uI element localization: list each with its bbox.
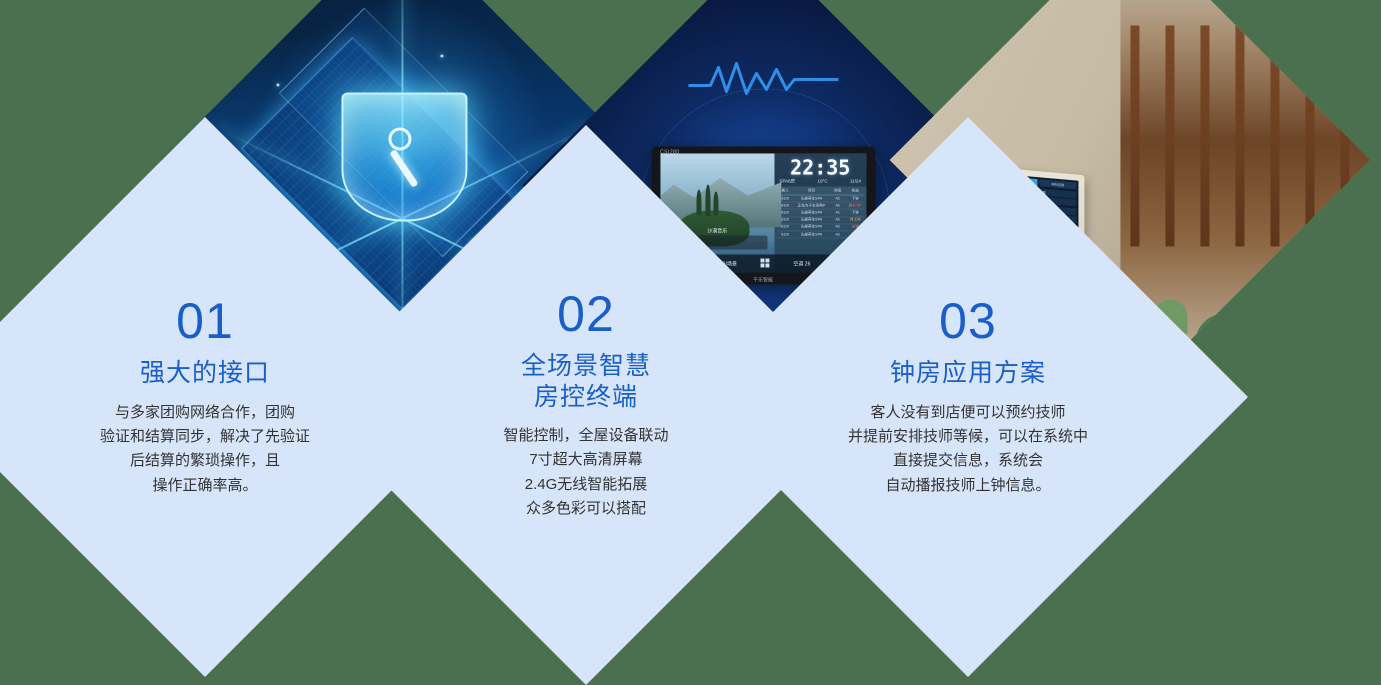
clock-widget: 22:35 SPA6房 19°C 11/24 [774,154,866,187]
table-row: 8119 头部养生SPA A2 下钟 [776,195,864,202]
card-description: 智能控制，全屋设备联动 7寸超大高清屏幕 2.4G无线智能拓展 众多色彩可以搭配 [436,424,736,521]
col-status: 状态 [847,189,865,194]
card-number: 03 [818,296,1118,346]
table-row: 8119 头部养生SPA A2 待上钟 [776,217,864,224]
table-row: 8119 头部养生SPA A1 下钟 [776,210,864,217]
promo-banner: CSI280 沙漠音乐 [0,0,1381,603]
apps-grid-icon[interactable] [761,258,770,269]
pulse-wave-icon [688,60,838,100]
col-item: 项目 [794,189,829,194]
shield-lock-icon [341,93,467,222]
temperature-label: 19°C [818,179,828,185]
table-header: 客人 项目 钟房 状态 [776,189,864,196]
plant-leaf [1269,347,1313,391]
room-label: SPA6房 [779,179,795,185]
card-title: 强大的接口 [55,358,355,389]
bottom-button-ac[interactable]: 空调 26 [793,260,810,267]
wood-slats [1120,25,1370,246]
col-room: 钟房 [829,189,847,194]
card-description: 与多家团购网络合作，团购 验证和结算同步，解决了先验证 后结算的繁琐操作，且 操… [55,401,355,498]
card-title: 全场景智慧 房控终端 [436,351,736,412]
card-number: 01 [55,296,355,346]
date-label: 11/24 [850,179,861,185]
table-row: 8119 正在为子女采购P A2 剩11'50" [776,203,864,210]
clock-time: 22:35 [777,157,863,177]
card-number: 02 [436,289,736,339]
card-description: 客人没有到店便可以预约技师 并提前安排技师等候，可以在系统中 直接提交信息，系统… [818,401,1118,498]
card-title: 钟房应用方案 [818,358,1118,389]
table-row: 8119 头部养生SPA A2 加钟 [776,224,864,231]
